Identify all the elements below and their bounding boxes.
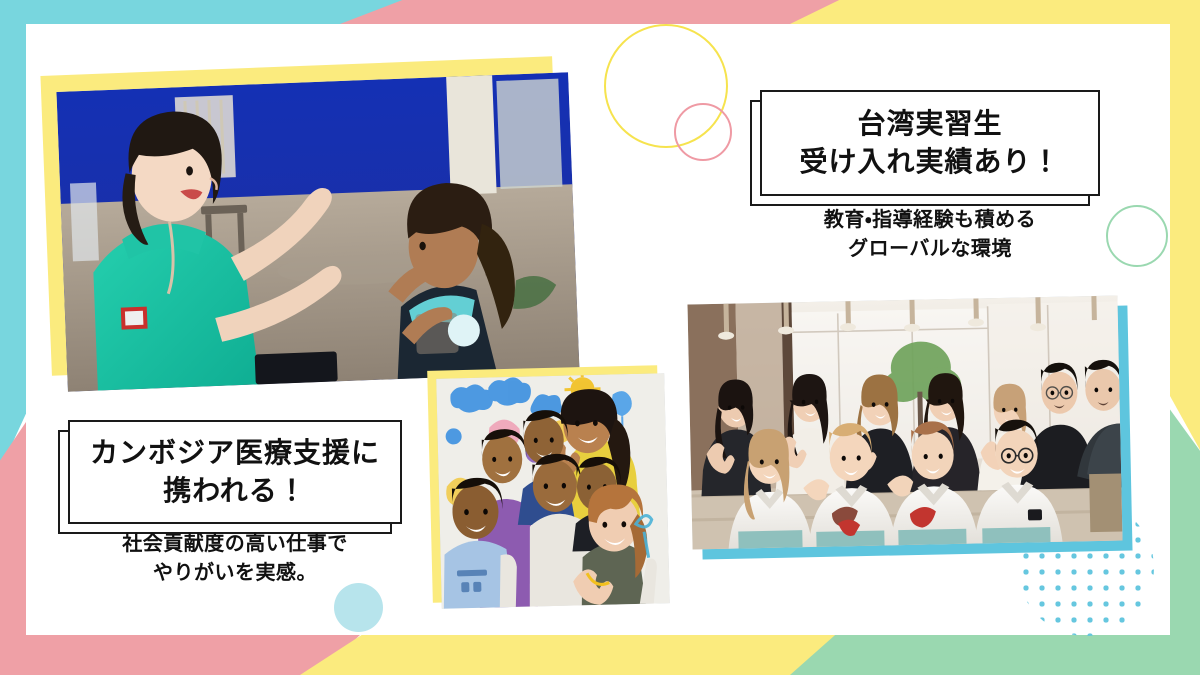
callout-taiwan-interns: 台湾実習生 受け入れ実績あり！ [760, 90, 1100, 196]
band-top-cyan [0, 0, 460, 24]
photo-medical-support [56, 72, 579, 391]
callout-cambodia-medical-line-1: カンボジア医療支援に [90, 434, 380, 472]
subtext-taiwan-interns-line-1: 教育・指導経験も積める [760, 206, 1100, 235]
cyan-solid-circle-icon [334, 583, 383, 632]
band-right-green [1170, 380, 1200, 675]
subtext-taiwan-interns: 教育・指導経験も積める グローバルな環境 [760, 206, 1100, 264]
callout-taiwan-interns-box: 台湾実習生 受け入れ実績あり！ [760, 90, 1100, 196]
green-ring-circle-icon [1106, 205, 1168, 267]
photo-staff-group [687, 296, 1122, 550]
pink-ring-circle-icon [674, 103, 732, 161]
callout-cambodia-medical: カンボジア医療支援に 携われる！ [68, 420, 402, 524]
subtext-cambodia-medical-line-2: やりがいを実感。 [68, 559, 402, 588]
subtext-cambodia-medical-line-1: 社会貢献度の高い仕事で [68, 530, 402, 559]
callout-cambodia-medical-line-2: 携われる！ [163, 472, 307, 510]
photo-staff-group-image [687, 296, 1122, 550]
band-top-pink [340, 0, 860, 24]
subtext-cambodia-medical: 社会貢献度の高い仕事で やりがいを実感。 [68, 530, 402, 588]
photo-medical-support-image [56, 72, 579, 391]
band-left-pink [0, 400, 26, 675]
subtext-taiwan-interns-line-2: グローバルな環境 [760, 235, 1100, 264]
band-bottom-yellow [300, 635, 860, 675]
callout-taiwan-interns-line-1: 台湾実習生 [857, 105, 1002, 143]
photo-children-group-image [436, 373, 670, 609]
band-left-cyan [0, 0, 26, 470]
band-bottom-pink [0, 635, 360, 675]
slide-canvas: 台湾実習生 受け入れ実績あり！ 教育・指導経験も積める グローバルな環境 カンボ… [0, 0, 1200, 675]
band-top-yellow [790, 0, 1200, 24]
callout-cambodia-medical-box: カンボジア医療支援に 携われる！ [68, 420, 402, 524]
callout-taiwan-interns-line-2: 受け入れ実績あり！ [799, 143, 1060, 181]
band-bottom-green [790, 635, 1200, 675]
photo-children-group [436, 373, 670, 609]
band-right-yellow [1170, 0, 1200, 450]
